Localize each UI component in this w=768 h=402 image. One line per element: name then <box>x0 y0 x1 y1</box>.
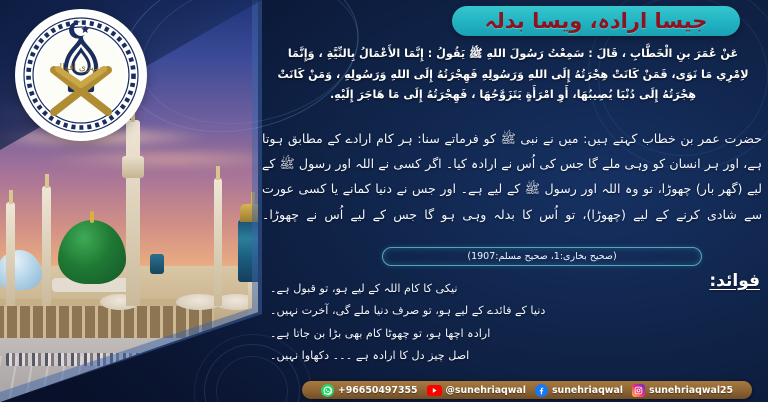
benefit-item: دنیا کے فائدے کے لیے ہو، تو صرف دنیا ملے… <box>270 300 690 322</box>
benefit-item: ارادہ اچھا ہو، تو چھوٹا کام بھی بڑا بن ج… <box>270 323 690 345</box>
logo-emblem-icon: سنہری اقوال <box>18 12 144 138</box>
youtube-handle: @sunehriaqwal <box>446 385 526 396</box>
page-title: جیسا ارادہ، ویسا بدلہ <box>485 11 708 32</box>
poster-canvas: سنہری اقوال جیسا ارادہ، ویسا بدلہ عَنْ ع… <box>0 0 768 402</box>
instagram-handle: sunehriaqwal25 <box>649 385 733 396</box>
whatsapp-number: +96650497355 <box>338 385 418 396</box>
minaret <box>126 120 140 306</box>
benefit-item: اصل چیز دل کا ارادہ ہے ۔۔۔ دکھاوا نہیں۔ <box>270 345 690 367</box>
benefits-heading: فوائد: <box>709 271 760 291</box>
minaret-lamp <box>150 254 164 274</box>
social-item-youtube[interactable]: @sunehriaqwal <box>427 385 526 396</box>
minaret <box>6 202 15 306</box>
whatsapp-icon <box>321 384 334 397</box>
minaret <box>214 178 222 306</box>
poster-title-banner: جیسا ارادہ، ویسا بدلہ <box>452 6 740 36</box>
facebook-icon <box>535 384 548 397</box>
benefits-list: نیکی کا کام اللہ کے لیے ہو، تو قبول ہے۔ … <box>270 278 690 368</box>
arabic-hadith-text: عَنْ عُمَرَ بنِ الْخَطَّابِ ، قَالَ : سَ… <box>270 44 756 106</box>
youtube-icon <box>427 385 442 396</box>
social-item-whatsapp[interactable]: +96650497355 <box>321 384 418 397</box>
benefit-item: نیکی کا کام اللہ کے لیے ہو، تو قبول ہے۔ <box>270 278 690 300</box>
minaret <box>42 186 51 306</box>
social-item-facebook[interactable]: sunehriaqwal <box>535 384 623 397</box>
social-media-bar: +96650497355 @sunehriaqwal sunehriaqwal <box>302 381 752 399</box>
instagram-icon <box>632 384 645 397</box>
social-item-instagram[interactable]: sunehriaqwal25 <box>632 384 733 397</box>
urdu-translation-text: حضرت عمر بن خطاب کہتے ہیں: میں نے نبی ﷺ … <box>262 126 762 227</box>
citation-text: (صحیح بخاری:1، صحیح مسلم:1907) <box>467 251 616 262</box>
sunehri-aqwal-logo[interactable]: سنہری اقوال <box>18 12 144 138</box>
facebook-handle: sunehriaqwal <box>552 385 623 396</box>
hadith-citation-pill: (صحیح بخاری:1، صحیح مسلم:1907) <box>382 247 702 266</box>
